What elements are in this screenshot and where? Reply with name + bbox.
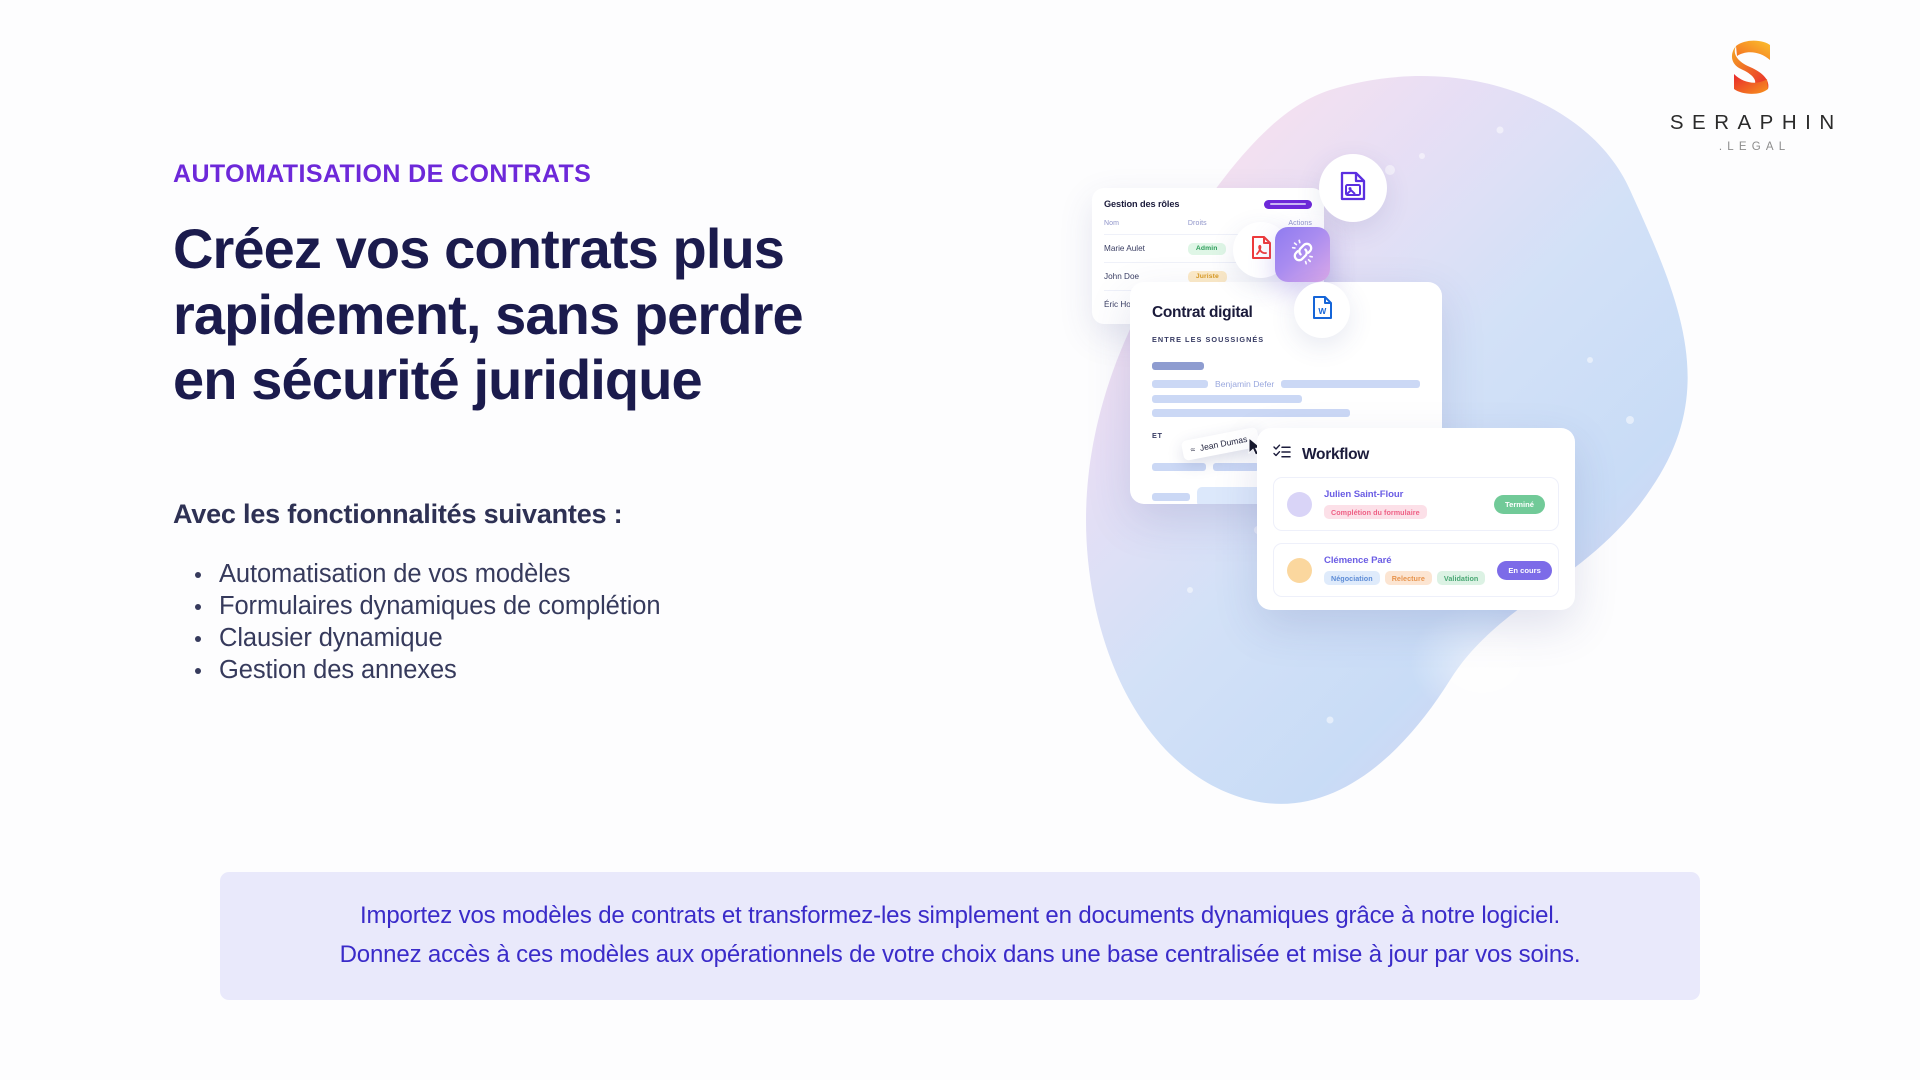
placeholder-bar [1152,380,1208,388]
roles-primary-button[interactable] [1264,200,1312,209]
product-illustration: Gestion des rôles Nom Droits Actions Mar… [1030,60,1890,850]
banner-line-2: Donnez accès à ces modèles aux opération… [340,941,1581,970]
workflow-tag: Négociation [1324,571,1380,586]
placeholder-bar [1152,493,1190,501]
bottom-banner: Importez vos modèles de contrats et tran… [220,872,1700,1000]
svg-text:W: W [1318,306,1326,316]
workflow-tag: Validation [1437,571,1485,586]
contract-card-subtitle: ENTRE LES SOUSSIGNÉS [1152,335,1420,344]
column-header-nom: Nom [1104,220,1188,235]
roles-card-header: Gestion des rôles [1104,199,1312,209]
word-file-icon: W [1312,295,1333,325]
badge-image[interactable] [1319,154,1387,222]
placeholder-bar [1213,463,1259,471]
avatar [1287,492,1312,517]
list-item: Automatisation de vos modèles [173,558,933,590]
headline-line-1: Créez vos contrats plus [173,217,784,280]
list-item: Gestion des annexes [173,654,933,686]
placeholder-bar [1281,380,1420,388]
list-item: Formulaires dynamiques de complétion [173,590,933,622]
placeholder-bar [1152,463,1206,471]
features-intro: Avec les fonctionnalités suivantes : [173,499,933,530]
banner-line-1: Importez vos modèles de contrats et tran… [360,902,1560,931]
badge-word[interactable]: W [1294,282,1350,338]
placeholder-bar [1152,362,1204,370]
workflow-card-title: Workflow [1302,446,1369,464]
workflow-tag: Relecture [1385,571,1432,586]
cell-name: Marie Aulet [1104,235,1188,263]
eyebrow-label: AUTOMATISATION DE CONTRATS [173,160,933,189]
headline-line-2: rapidement, sans perdre [173,283,803,346]
badge-link[interactable] [1275,227,1330,282]
placeholder-bar [1152,395,1302,403]
workflow-tag: Complétion du formulaire [1324,505,1427,520]
list-item: Clausier dynamique [173,622,933,654]
page-title: Créez vos contrats plus rapidement, sans… [173,216,933,413]
workflow-tags: Complétion du formulaire [1324,505,1482,520]
workflow-card[interactable]: Workflow Julien Saint-Flour Complétion d… [1257,428,1575,610]
signature-name: Jean Dumas [1199,434,1248,453]
feature-list: Automatisation de vos modèles Formulaire… [173,558,933,686]
workflow-tags: Négociation Relecture Validation [1324,571,1485,586]
pdf-file-icon [1251,235,1272,265]
copy-block: AUTOMATISATION DE CONTRATS Créez vos con… [173,160,933,686]
slide-root: SERAPHIN .LEGAL AUTOMATISATION DE CONTRA… [0,0,1920,1080]
list-item[interactable]: Julien Saint-Flour Complétion du formula… [1273,477,1559,531]
avatar [1287,558,1312,583]
party-name: Benjamin Defer [1215,379,1274,389]
workflow-row-info: Julien Saint-Flour Complétion du formula… [1324,489,1482,520]
link-icon [1288,237,1318,272]
status-badge: Admin [1188,243,1226,255]
status-badge: Terminé [1494,495,1545,514]
checklist-icon [1273,444,1291,465]
placeholder-bar [1152,409,1350,417]
status-badge: Juriste [1188,271,1227,283]
party-line: Benjamin Defer [1152,379,1420,389]
workflow-row-info: Clémence Paré Négociation Relecture Vali… [1324,555,1485,586]
signature-icon: ≈ [1190,445,1196,455]
workflow-person-name: Julien Saint-Flour [1324,489,1482,500]
status-badge: En cours [1497,561,1552,580]
list-item[interactable]: Clémence Paré Négociation Relecture Vali… [1273,543,1559,597]
image-file-icon [1340,171,1366,206]
headline-line-3: en sécurité juridique [173,348,702,411]
roles-card-title: Gestion des rôles [1104,199,1179,209]
workflow-person-name: Clémence Paré [1324,555,1485,566]
workflow-card-header: Workflow [1273,444,1559,465]
contract-card-title: Contrat digital [1152,304,1420,322]
